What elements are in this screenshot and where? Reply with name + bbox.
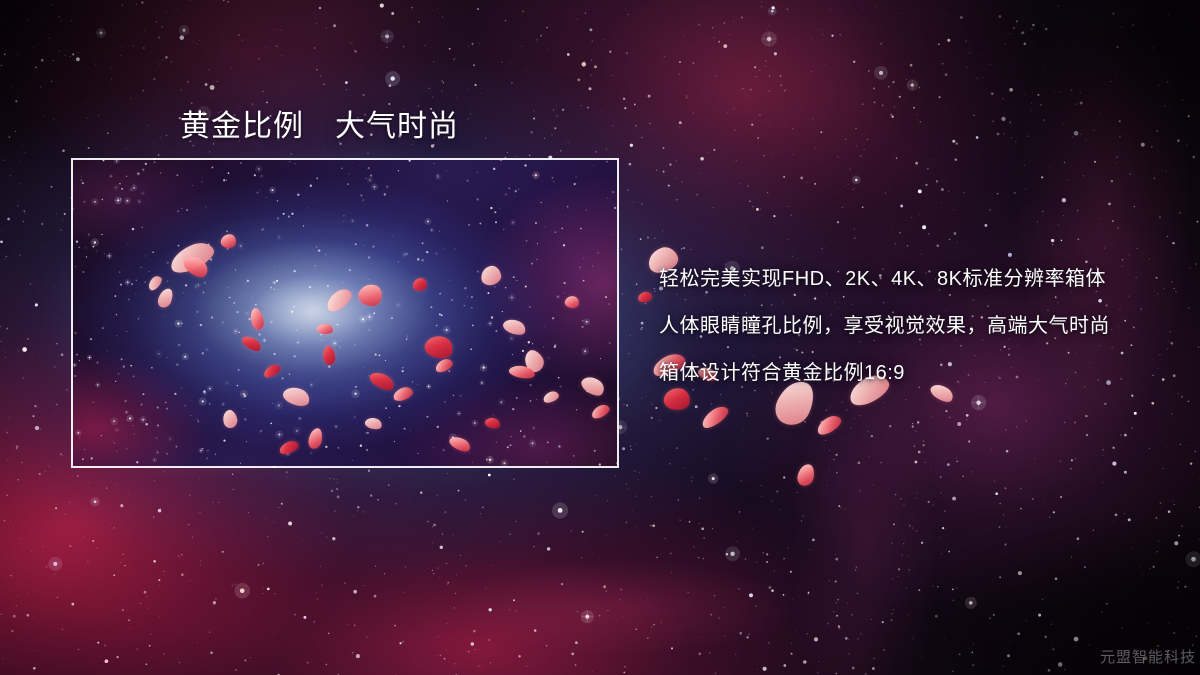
petal: [166, 238, 217, 278]
petal: [521, 347, 548, 375]
petal: [637, 291, 652, 303]
petal: [508, 363, 536, 380]
petal: [156, 286, 175, 309]
petal: [413, 278, 427, 291]
framed-photo: [71, 158, 619, 468]
petal-cluster-photo: [73, 160, 617, 466]
petal: [181, 252, 212, 281]
petal: [355, 280, 385, 310]
petal: [321, 345, 337, 366]
petal: [323, 285, 355, 314]
body-line-1: 轻松完美实现FHD、2K、4K、8K标准分辨率箱体: [659, 256, 1179, 303]
petal: [796, 463, 816, 488]
body-text-block: 轻松完美实现FHD、2K、4K、8K标准分辨率箱体 人体眼睛瞳孔比例，享受视觉效…: [659, 256, 1179, 397]
petal: [316, 323, 333, 335]
watermark: 元盟智能科技: [1100, 646, 1196, 667]
body-line-2: 人体眼睛瞳孔比例，享受视觉效果，高端大气时尚: [659, 303, 1179, 350]
petal: [814, 412, 844, 437]
petal: [364, 416, 383, 431]
petal: [221, 409, 239, 430]
petal: [240, 333, 264, 354]
petal: [392, 385, 415, 403]
petal: [699, 403, 732, 431]
petal: [422, 332, 455, 362]
petal: [281, 384, 312, 410]
petal: [434, 357, 455, 374]
petal: [278, 439, 301, 456]
petal: [146, 274, 164, 293]
petal: [579, 373, 608, 400]
body-line-3: 箱体设计符合黄金比例16:9: [659, 350, 1179, 397]
petal: [248, 307, 266, 331]
petal: [262, 362, 283, 379]
petal: [484, 416, 501, 430]
petal: [480, 264, 503, 286]
petal: [564, 294, 580, 309]
presentation-slide: 黄金比例 大气时尚 轻松完美实现FHD、2K、4K、8K标准分辨率箱体 人体眼睛…: [0, 0, 1200, 675]
petal: [307, 427, 323, 450]
petal: [447, 434, 472, 455]
petal: [367, 368, 397, 393]
petal: [542, 390, 560, 405]
page-title: 黄金比例 大气时尚: [180, 101, 459, 145]
petal: [501, 316, 528, 338]
petal: [220, 233, 238, 250]
petal: [590, 402, 612, 420]
